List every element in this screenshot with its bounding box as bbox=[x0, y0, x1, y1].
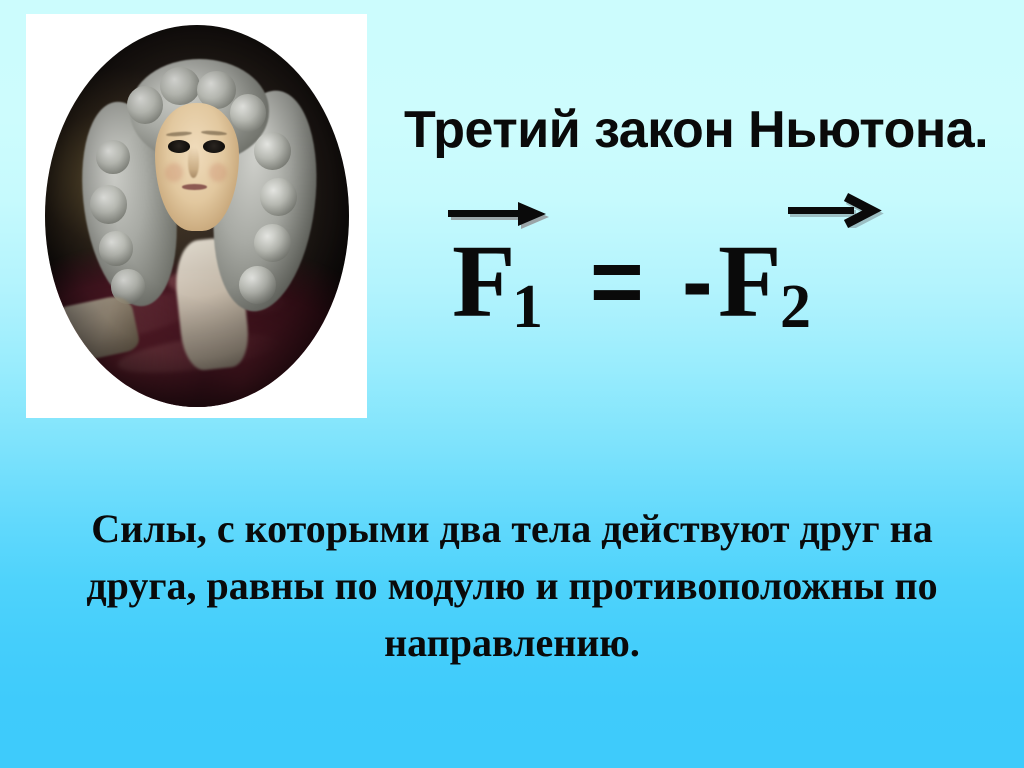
formula-block: F 1 = - F 2 bbox=[440, 192, 910, 357]
force-symbol-2: F bbox=[718, 230, 782, 334]
slide-canvas: Третий закон Ньютона. F 1 = - bbox=[0, 0, 1024, 768]
law-statement: Силы, с которыми два тела действуют друг… bbox=[62, 500, 962, 671]
oval-vignette bbox=[45, 25, 349, 407]
law-statement-line: Силы, с которыми два тела действуют друг… bbox=[62, 500, 962, 557]
minus-sign: - bbox=[682, 236, 713, 328]
force-symbol-1: F bbox=[452, 230, 516, 334]
newton-portrait-frame bbox=[26, 14, 367, 418]
law-statement-line: друга, равны по модулю и противоположны … bbox=[62, 557, 962, 614]
isaac-newton-portrait bbox=[45, 25, 349, 407]
page-title: Третий закон Ньютона. bbox=[404, 100, 1004, 160]
force-subscript-1: 1 bbox=[512, 276, 543, 338]
vector-arrow-icon bbox=[788, 192, 884, 233]
law-statement-line: направлению. bbox=[62, 614, 962, 671]
equals-sign: = bbox=[590, 236, 644, 328]
force-subscript-2: 2 bbox=[780, 276, 811, 338]
